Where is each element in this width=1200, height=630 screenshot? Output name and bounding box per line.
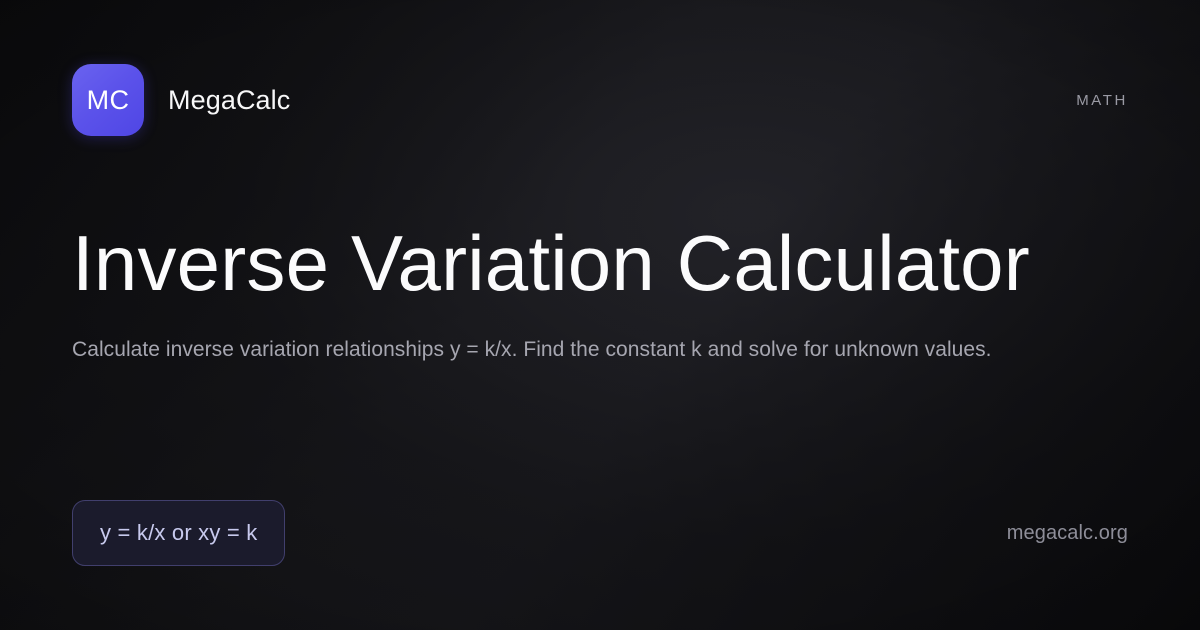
page-header: MC MegaCalc MATH	[72, 64, 1128, 136]
brand[interactable]: MC MegaCalc	[72, 64, 290, 136]
page-title: Inverse Variation Calculator	[72, 222, 1128, 305]
brand-name: MegaCalc	[168, 87, 290, 114]
logo-monogram-text: MC	[87, 87, 130, 114]
formula-badge: y = k/x or xy = k	[72, 500, 285, 566]
category-tag: MATH	[1076, 93, 1128, 108]
main-content: Inverse Variation Calculator Calculate i…	[72, 222, 1128, 367]
page-subtitle: Calculate inverse variation relationship…	[72, 332, 1072, 367]
site-url: megacalc.org	[1007, 523, 1128, 543]
og-card: MC MegaCalc MATH Inverse Variation Calcu…	[0, 0, 1200, 630]
page-footer: y = k/x or xy = k megacalc.org	[72, 500, 1128, 566]
app-logo[interactable]: MC	[72, 64, 144, 136]
